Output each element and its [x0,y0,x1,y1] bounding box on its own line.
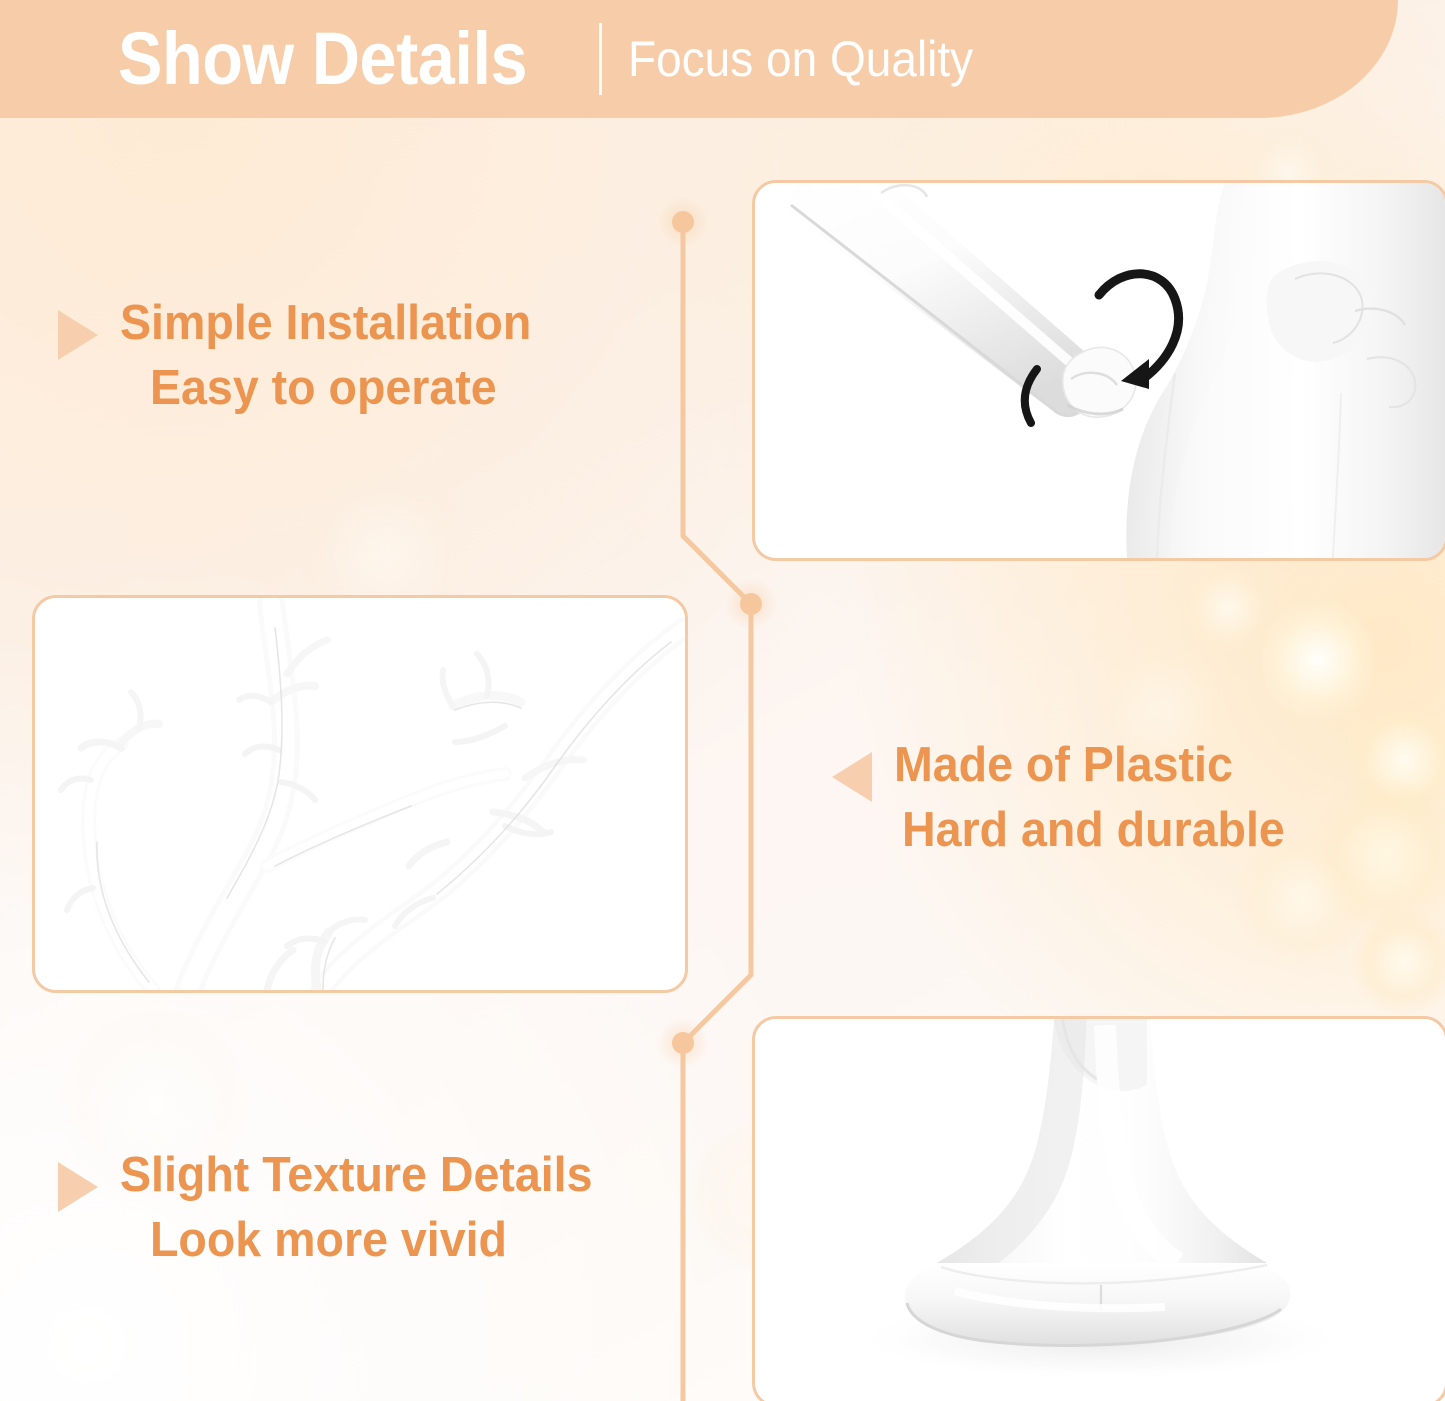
base-photo [755,1019,1445,1401]
feature-text-group: Simple Installation Easy to operate [120,296,553,416]
triangle-left-icon [832,752,872,802]
feature-subline: Look more vivid [150,1213,594,1268]
feature-made-of-plastic: Made of Plastic Hard and durable [832,738,1305,858]
product-detail-infographic: Show Details Focus on Quality Simple Ins… [0,0,1445,1401]
header-banner: Show Details Focus on Quality [0,0,1398,118]
feature-headline: Made of Plastic [894,738,1233,793]
node-bottom [672,1032,694,1054]
feature-slight-texture-details: Slight Texture Details Look more vivid [58,1148,617,1268]
node-middle [740,593,762,615]
vertical-divider-icon [599,23,602,95]
card-installation-photo [752,180,1445,561]
page-subtitle: Focus on Quality [628,34,973,84]
node-top [672,211,694,233]
feature-subline: Easy to operate [150,361,533,416]
header-content: Show Details Focus on Quality [118,0,1003,118]
branch-illustration [35,598,685,990]
feature-text-group: Slight Texture Details Look more vivid [120,1148,617,1268]
feature-headline: Slight Texture Details [120,1148,593,1203]
branch-texture-photo [35,598,685,990]
card-base-photo [752,1016,1445,1401]
page-title: Show Details [118,22,527,96]
card-branch-texture-photo [32,595,688,993]
installation-photo [755,183,1445,558]
feature-subline: Hard and durable [902,803,1285,858]
feature-text-group: Made of Plastic Hard and durable [894,738,1305,858]
triangle-right-icon [58,1162,98,1212]
feature-headline: Simple Installation [120,296,531,351]
feature-simple-installation: Simple Installation Easy to operate [58,296,553,416]
installation-illustration [755,183,1445,558]
base-illustration [755,1019,1445,1401]
triangle-right-icon [58,310,98,360]
